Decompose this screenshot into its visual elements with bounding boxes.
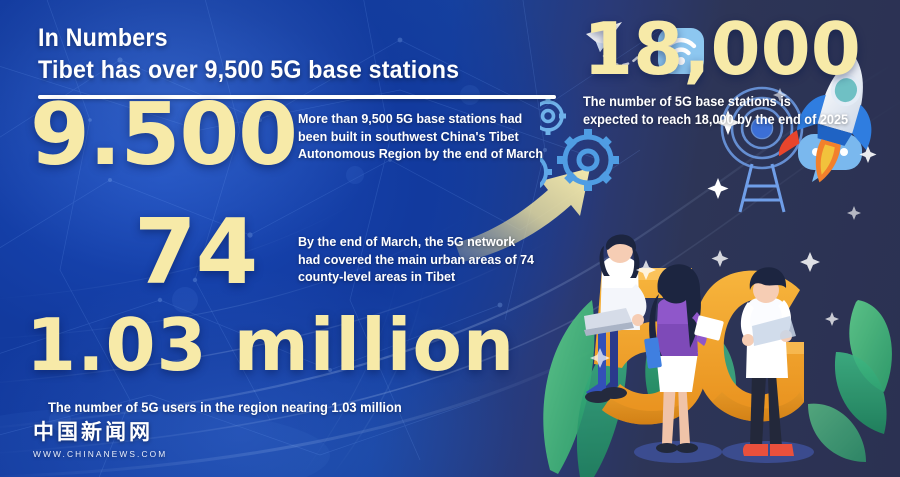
stat-description-users: The number of 5G users in the region nea… bbox=[48, 400, 542, 415]
brand-name-cn: 中国新闻网 bbox=[33, 416, 167, 446]
gear-icon bbox=[540, 97, 566, 135]
stat-description-base-stations-built: More than 9,500 5G base stations had bee… bbox=[298, 110, 543, 163]
stat-value-counties-covered: 74 bbox=[134, 212, 257, 295]
stat-description-counties-covered: By the end of March, the 5G network had … bbox=[298, 233, 537, 286]
stat-value-base-stations-built: 9.500 bbox=[30, 96, 297, 175]
brand-url: WWW.CHINANEWS.COM bbox=[33, 449, 167, 459]
infographic-canvas: In Numbers Tibet has over 9,500 5G base … bbox=[0, 0, 900, 477]
gear-icon bbox=[557, 129, 619, 191]
stat-value-target-2025: 18,000 bbox=[583, 16, 861, 82]
brand-logo: 中国新闻网 WWW.CHINANEWS.COM bbox=[33, 416, 167, 459]
title-main: Tibet has over 9,500 5G base stations bbox=[38, 54, 531, 86]
stat-description-target-2025: The number of 5G base stations is expect… bbox=[583, 93, 849, 129]
title-kicker: In Numbers bbox=[38, 22, 531, 54]
stat-value-users: 1.03 million bbox=[26, 312, 515, 378]
page-title: In Numbers Tibet has over 9,500 5G base … bbox=[38, 22, 531, 86]
